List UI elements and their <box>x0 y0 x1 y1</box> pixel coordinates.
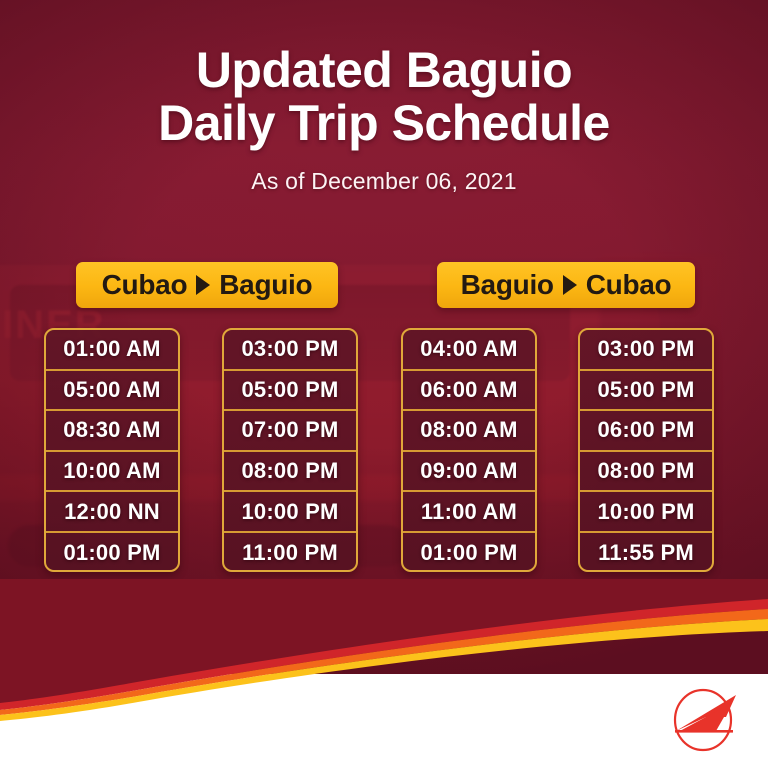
trip-time: 08:30 AM <box>63 417 160 443</box>
schedule-row: 11:00 PM <box>224 533 356 572</box>
schedule-row: 12:00 NN <box>46 492 178 533</box>
trip-time: 05:00 AM <box>63 377 160 403</box>
schedule-row: 08:00 AM <box>403 411 535 452</box>
trip-time: 04:00 AM <box>420 336 517 362</box>
schedule-column-cubao-baguio-2: 03:00 PM 05:00 PM 07:00 PM 08:00 PM 10:0… <box>222 328 358 572</box>
schedule-row: 01:00 AM <box>46 330 178 371</box>
schedule-row: 08:00 PM <box>580 452 712 493</box>
trip-time: 08:00 PM <box>598 458 695 484</box>
route-destination-label: Cubao <box>586 269 672 301</box>
trip-time: 01:00 PM <box>64 540 161 566</box>
trip-time: 01:00 AM <box>63 336 160 362</box>
schedule-row: 03:00 PM <box>580 330 712 371</box>
title-line-2: Daily Trip Schedule <box>0 97 768 150</box>
schedule-row: 05:00 PM <box>580 371 712 412</box>
trip-time: 03:00 PM <box>242 336 339 362</box>
schedule-row: 01:00 PM <box>403 533 535 572</box>
trip-time: 05:00 PM <box>242 377 339 403</box>
trip-time: 11:00 AM <box>421 499 517 525</box>
trip-time: 03:00 PM <box>598 336 695 362</box>
logo-baseline <box>675 730 733 733</box>
trip-time: 07:00 PM <box>242 417 339 443</box>
schedule-row: 11:55 PM <box>580 533 712 572</box>
trip-time: 11:00 PM <box>242 540 338 566</box>
schedule-row: 06:00 PM <box>580 411 712 452</box>
trip-time: 11:55 PM <box>598 540 694 566</box>
trip-time: 10:00 PM <box>242 499 339 525</box>
trip-time: 10:00 PM <box>598 499 695 525</box>
bottom-swoosh-ribbon <box>0 579 768 769</box>
schedule-row: 09:00 AM <box>403 452 535 493</box>
route-badges: Cubao Baguio Baguio Cubao <box>0 262 768 308</box>
arrow-right-triangle-icon <box>196 275 210 295</box>
route-badge-baguio-cubao[interactable]: Baguio Cubao <box>437 262 695 308</box>
schedule-row: 08:30 AM <box>46 411 178 452</box>
route-destination-label: Baguio <box>219 269 312 301</box>
schedule-columns: 01:00 AM 05:00 AM 08:30 AM 10:00 AM 12:0… <box>0 328 768 572</box>
page-title: Updated Baguio Daily Trip Schedule <box>0 44 768 150</box>
page-subtitle: As of December 06, 2021 <box>0 168 768 195</box>
schedule-row: 10:00 PM <box>580 492 712 533</box>
schedule-column-baguio-cubao-2: 03:00 PM 05:00 PM 06:00 PM 08:00 PM 10:0… <box>578 328 714 572</box>
victory-liner-bird-logo <box>666 687 744 753</box>
trip-time: 09:00 AM <box>420 458 517 484</box>
schedule-poster: INER Updated Baguio Daily Trip Schedule … <box>0 0 768 769</box>
title-line-1: Updated Baguio <box>0 44 768 97</box>
route-badge-cubao-baguio[interactable]: Cubao Baguio <box>76 262 338 308</box>
trip-time: 01:00 PM <box>421 540 518 566</box>
schedule-row: 07:00 PM <box>224 411 356 452</box>
route-origin-label: Baguio <box>461 269 554 301</box>
poster-header: Updated Baguio Daily Trip Schedule As of… <box>0 44 768 195</box>
trip-time: 06:00 PM <box>598 417 695 443</box>
schedule-row: 04:00 AM <box>403 330 535 371</box>
schedule-row: 06:00 AM <box>403 371 535 412</box>
trip-time: 05:00 PM <box>598 377 695 403</box>
schedule-row: 05:00 AM <box>46 371 178 412</box>
trip-time: 12:00 NN <box>64 499 160 525</box>
trip-time: 08:00 PM <box>242 458 339 484</box>
schedule-row: 10:00 AM <box>46 452 178 493</box>
schedule-column-cubao-baguio-1: 01:00 AM 05:00 AM 08:30 AM 10:00 AM 12:0… <box>44 328 180 572</box>
trip-time: 06:00 AM <box>420 377 517 403</box>
schedule-row: 10:00 PM <box>224 492 356 533</box>
schedule-column-baguio-cubao-1: 04:00 AM 06:00 AM 08:00 AM 09:00 AM 11:0… <box>401 328 537 572</box>
trip-time: 10:00 AM <box>63 458 160 484</box>
schedule-row: 03:00 PM <box>224 330 356 371</box>
schedule-row: 05:00 PM <box>224 371 356 412</box>
schedule-row: 11:00 AM <box>403 492 535 533</box>
schedule-row: 01:00 PM <box>46 533 178 572</box>
schedule-row: 08:00 PM <box>224 452 356 493</box>
arrow-right-triangle-icon <box>563 275 577 295</box>
trip-time: 08:00 AM <box>420 417 517 443</box>
route-origin-label: Cubao <box>102 269 188 301</box>
